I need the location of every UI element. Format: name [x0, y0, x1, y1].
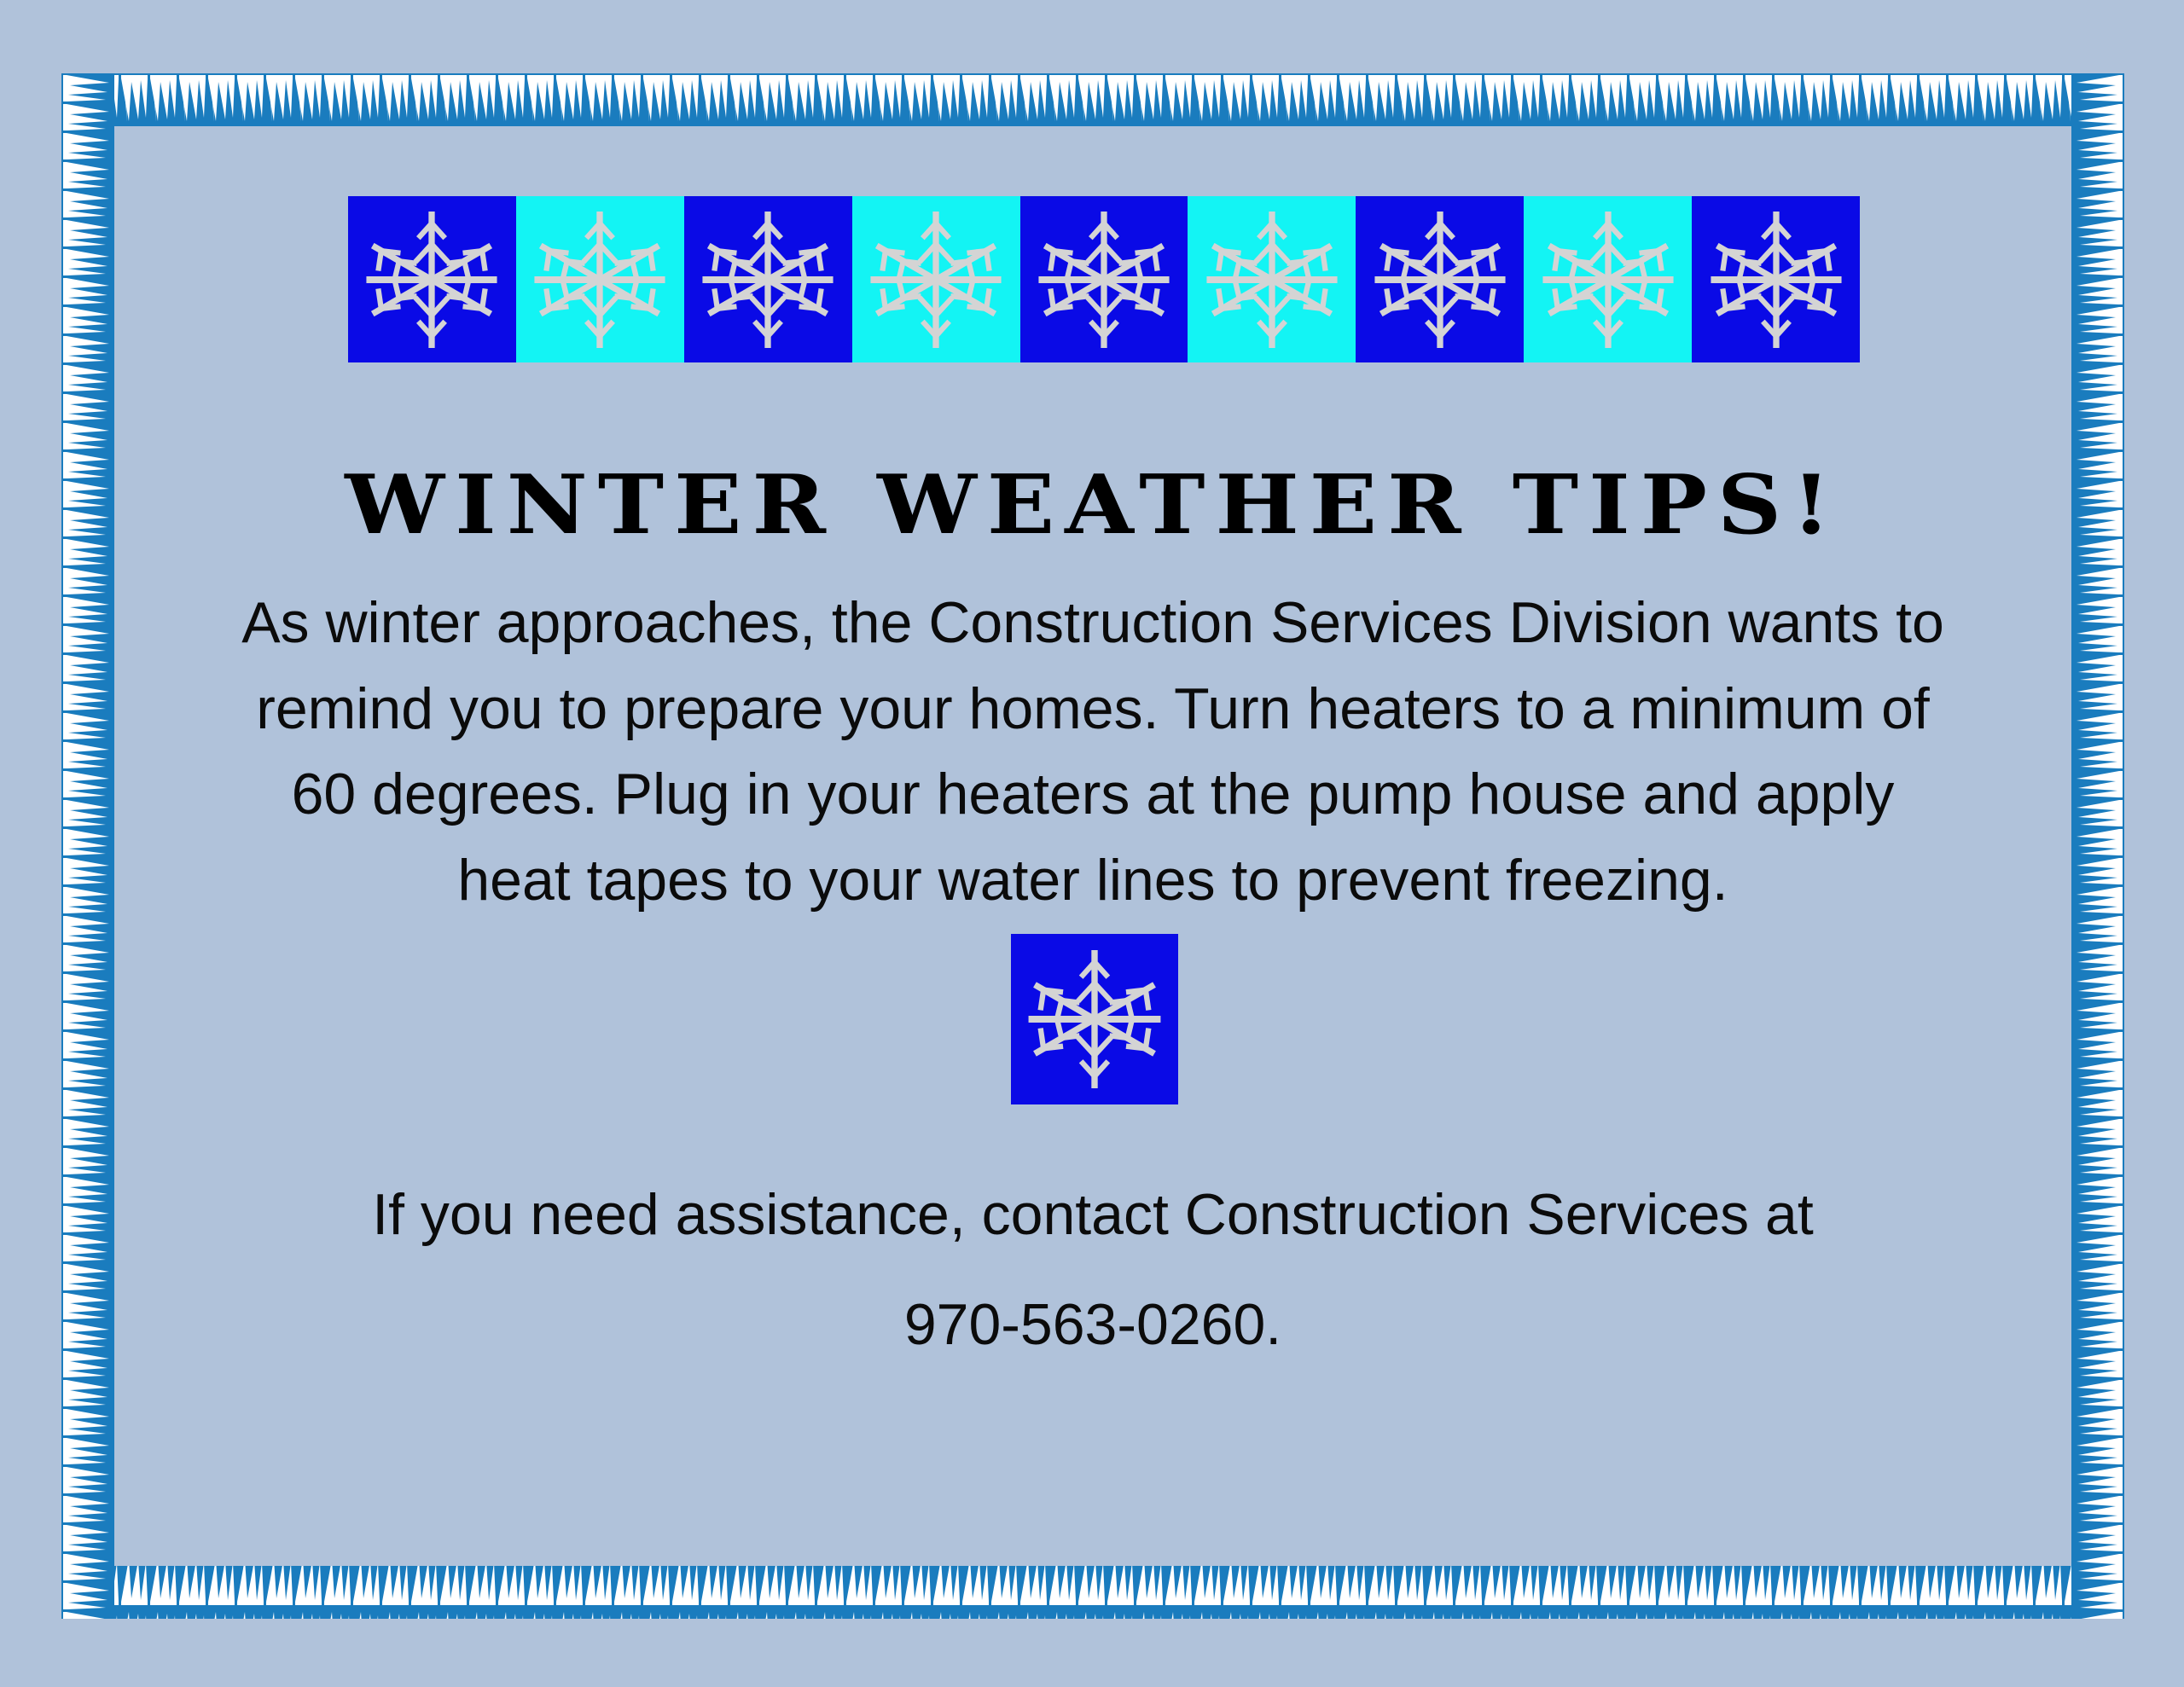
snowflake-tile-1: [348, 196, 516, 362]
snowflake-icon: [1019, 944, 1170, 1094]
snowflake-strip: [348, 196, 1860, 362]
snowflake-tile-4: [852, 196, 1020, 362]
snowflake-icon: [1030, 206, 1178, 354]
snowflake-tile-6: [1188, 196, 1356, 362]
center-snowflake: [1011, 934, 1178, 1104]
body-line-4: heat tapes to your water lines to preven…: [179, 838, 2007, 924]
poster-content: WINTER WEATHER TIPS! As winter approache…: [128, 136, 2058, 1554]
snowflake-tile-2: [516, 196, 684, 362]
snowflake-tile-7: [1356, 196, 1524, 362]
snowflake-tile-9: [1692, 196, 1860, 362]
contact-block: If you need assistance, contact Construc…: [179, 1160, 2007, 1380]
body-paragraph: As winter approaches, the Construction S…: [179, 580, 2007, 924]
snowflake-icon: [1702, 206, 1850, 354]
body-line-2: remind you to prepare your homes. Turn h…: [179, 666, 2007, 752]
snowflake-tile-8: [1524, 196, 1692, 362]
page-title: WINTER WEATHER TIPS!: [128, 464, 2058, 546]
winter-weather-tips-poster: WINTER WEATHER TIPS! As winter approache…: [0, 0, 2184, 1687]
contact-line-1: If you need assistance, contact Construc…: [179, 1160, 2007, 1270]
body-line-1: As winter approaches, the Construction S…: [179, 580, 2007, 666]
contact-phone: 970-563-0260.: [179, 1270, 2007, 1380]
snowflake-icon: [1198, 206, 1346, 354]
snowflake-icon: [862, 206, 1010, 354]
snowflake-icon: [694, 206, 842, 354]
snowflake-tile-5: [1020, 196, 1188, 362]
snowflake-icon: [357, 206, 506, 354]
snowflake-icon: [1534, 206, 1682, 354]
body-line-3: 60 degrees. Plug in your heaters at the …: [179, 751, 2007, 838]
snowflake-icon: [526, 206, 674, 354]
snowflake-tile-3: [684, 196, 852, 362]
snowflake-icon: [1366, 206, 1514, 354]
